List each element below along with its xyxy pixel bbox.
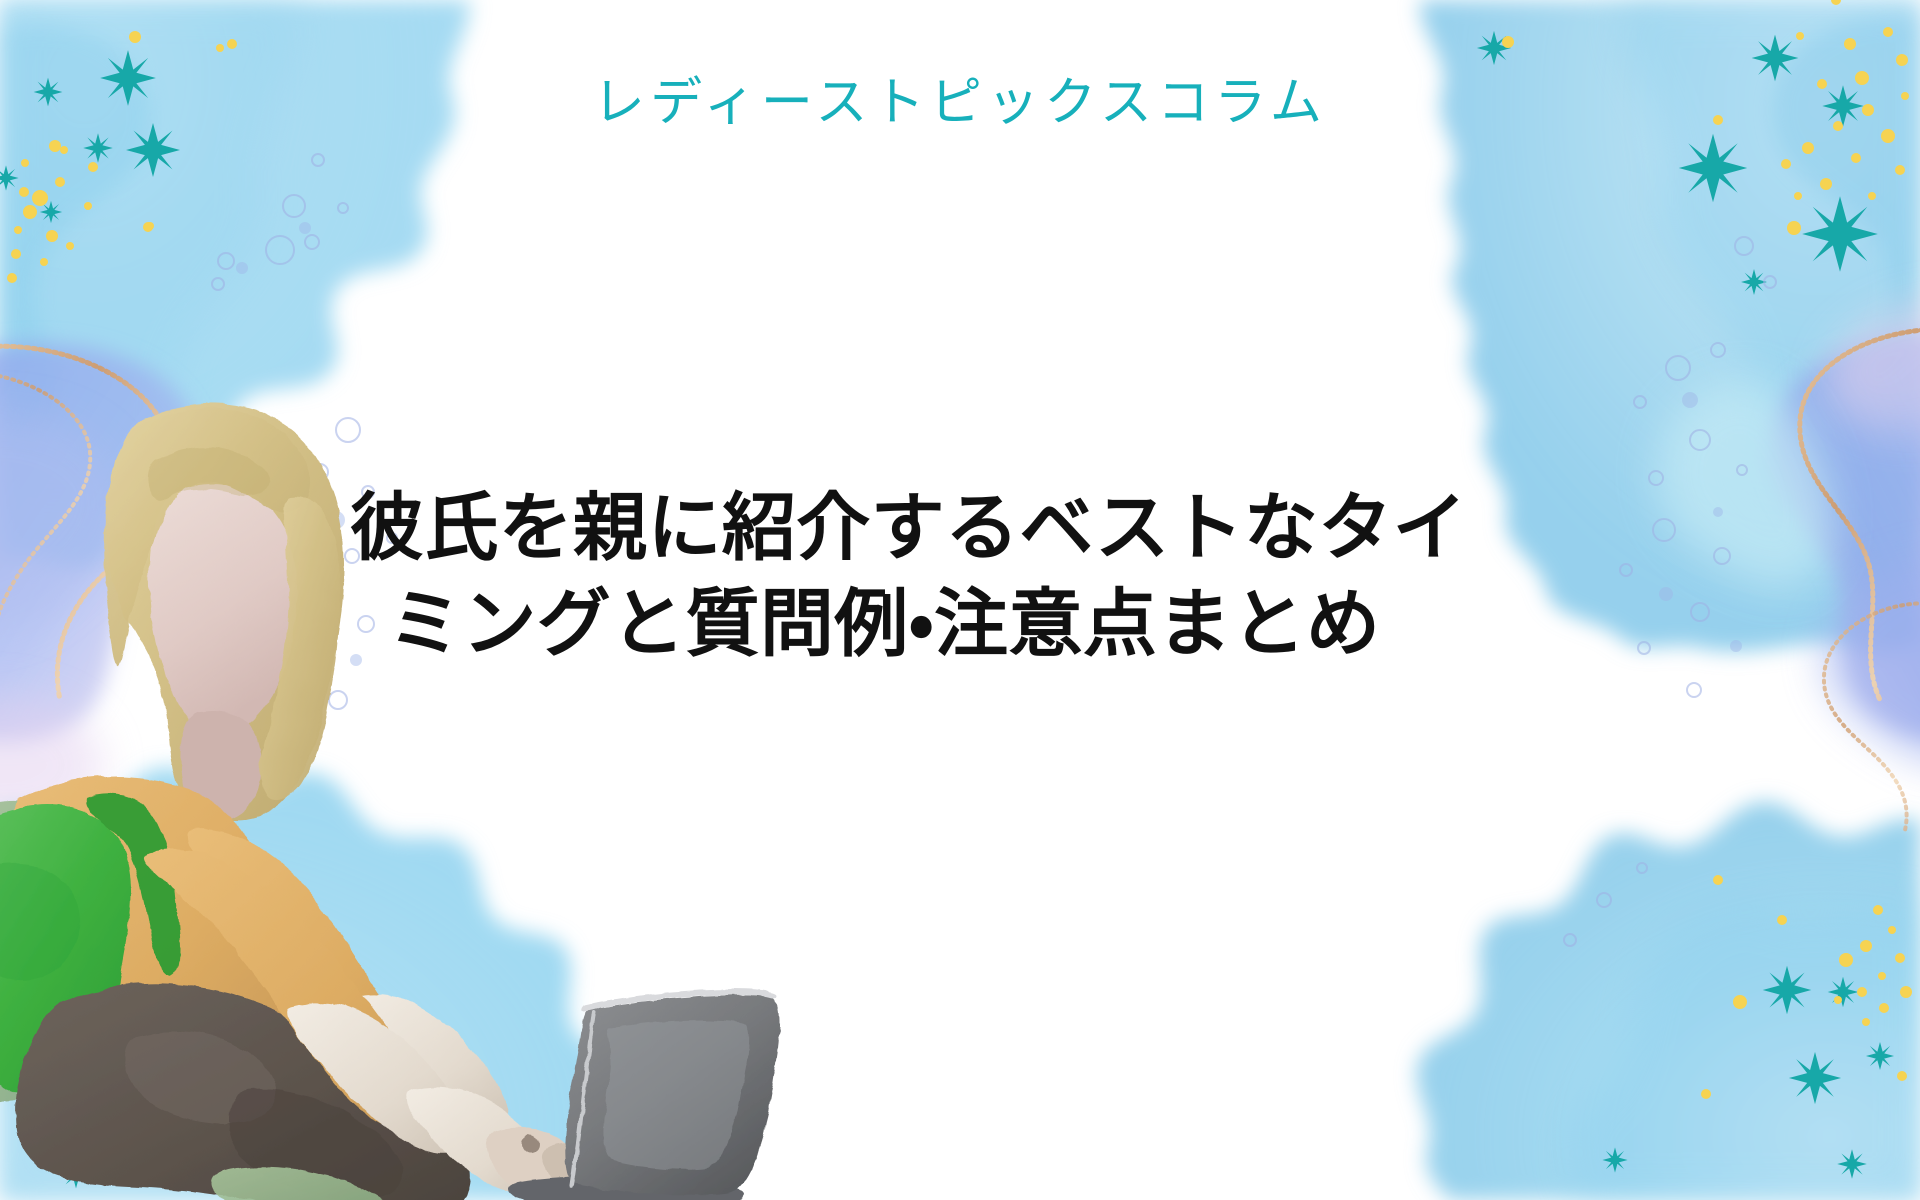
page-title: 彼氏を親に紹介するベストなタイ ミングと質問例・注意点まとめ bbox=[350, 480, 1610, 672]
eight-point-star bbox=[40, 201, 62, 223]
eight-point-star bbox=[1602, 1147, 1627, 1172]
poster-canvas: レディーストピックスコラム 彼氏を親に紹介するベストなタイ ミングと質問例・注意… bbox=[0, 0, 1920, 1200]
page-title-line-1: 彼氏を親に紹介するベストなタイ bbox=[350, 480, 1610, 576]
gold-glitter-line bbox=[1824, 603, 1920, 834]
eight-point-star bbox=[1789, 1052, 1841, 1104]
eight-point-star bbox=[0, 165, 19, 190]
eight-point-star bbox=[83, 133, 113, 163]
gold-glitter-line bbox=[1800, 329, 1920, 700]
eight-point-star bbox=[1828, 977, 1859, 1008]
eight-point-star bbox=[1802, 196, 1878, 272]
eight-point-star bbox=[1837, 1149, 1867, 1179]
decor-wash-bottom-right bbox=[1417, 802, 1920, 1200]
page-title-line-2: ミングと質問例・注意点まとめ bbox=[350, 576, 1610, 672]
eyebrow-category-label: レディーストピックスコラム bbox=[0, 72, 1920, 134]
eight-point-star bbox=[1741, 269, 1767, 295]
decor-ink-right bbox=[1656, 298, 1920, 834]
eight-point-star bbox=[1763, 966, 1812, 1015]
eight-point-star bbox=[1477, 31, 1511, 65]
eight-point-star bbox=[1679, 134, 1747, 202]
eight-point-star bbox=[1866, 1042, 1894, 1070]
